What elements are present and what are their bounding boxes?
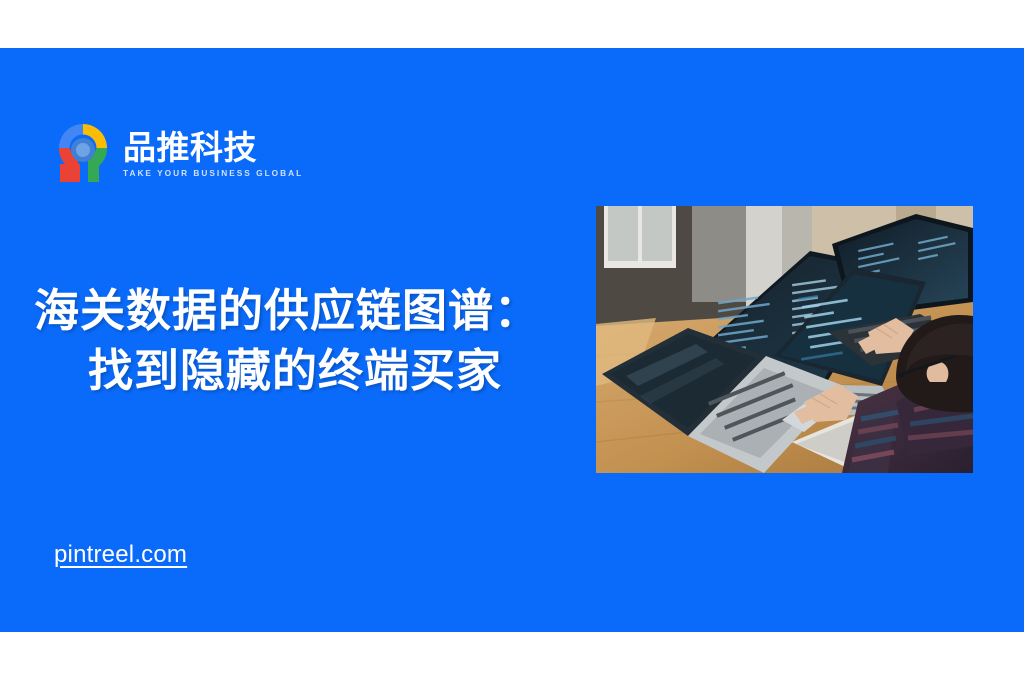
- top-white-band: [0, 0, 1024, 48]
- brand-name: 品推科技: [123, 131, 303, 166]
- banner-slide: 品推科技 TAKE YOUR BUSINESS GLOBAL 海关数据的供应链图…: [0, 0, 1024, 683]
- bottom-white-band: [0, 632, 1024, 683]
- headline-line-2: 找到隐藏的终端买家: [34, 341, 564, 401]
- logo-text-block: 品推科技 TAKE YOUR BUSINESS GLOBAL: [123, 128, 303, 179]
- page-title: 海关数据的供应链图谱： 找到隐藏的终端买家: [34, 281, 564, 401]
- brand-tagline: TAKE YOUR BUSINESS GLOBAL: [123, 168, 303, 178]
- brand-logo[interactable]: 品推科技 TAKE YOUR BUSINESS GLOBAL: [52, 120, 303, 186]
- hero-photo: [596, 206, 973, 473]
- headline-line-1: 海关数据的供应链图谱：: [34, 281, 564, 341]
- developer-desk-photo-illustration: [596, 206, 973, 473]
- pintreel-circular-logo-icon: [52, 120, 114, 186]
- site-url-link[interactable]: pintreel.com: [54, 541, 187, 569]
